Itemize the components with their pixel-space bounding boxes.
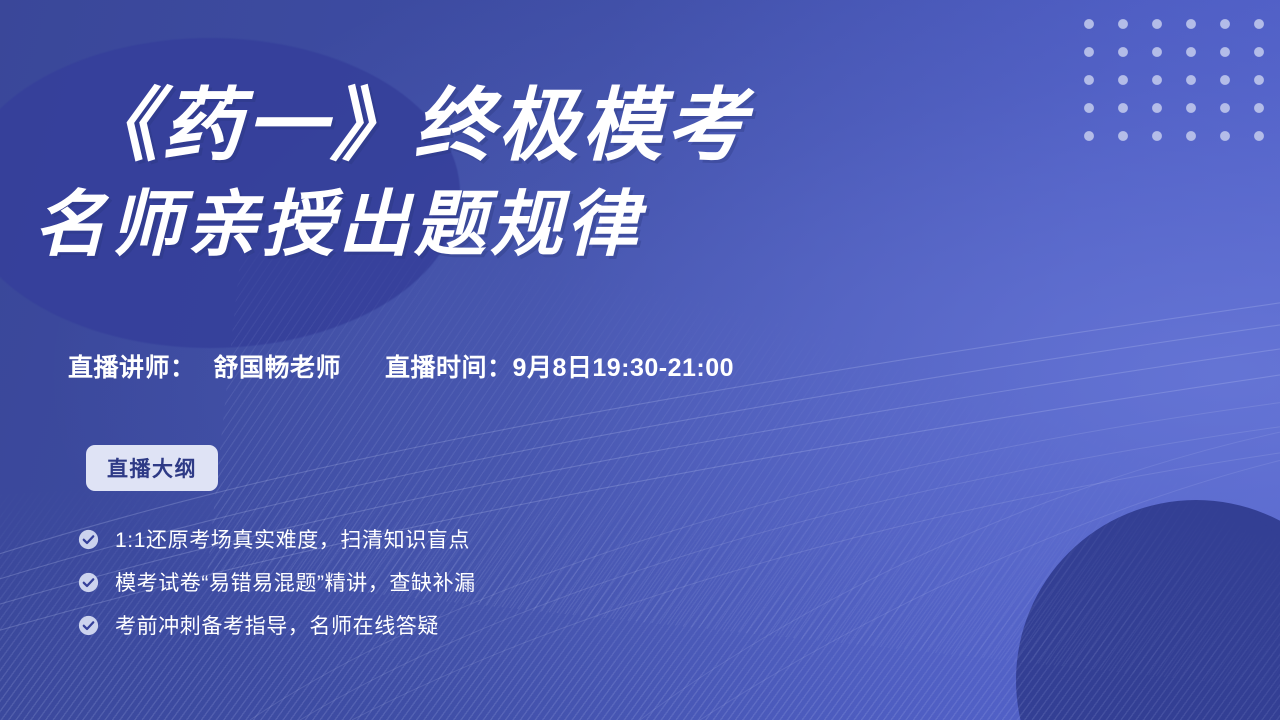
session-meta: 直播讲师： 舒国畅老师 直播时间： 9月8日19:30-21:00	[68, 348, 734, 384]
check-circle-icon	[78, 615, 99, 636]
live-class-poster: 《药一》终极模考 名师亲授出题规律 直播讲师： 舒国畅老师 直播时间： 9月8日…	[0, 0, 1280, 720]
list-item: 模考试卷“易错易混题”精讲，查缺补漏	[78, 561, 718, 603]
outline-list: 1:1还原考场真实难度，扫清知识盲点 模考试卷“易错易混题”精讲，查缺补漏 考前…	[78, 518, 718, 647]
instructor-name: 舒国畅老师	[214, 348, 342, 384]
time-label: 直播时间：	[385, 348, 513, 384]
check-circle-icon	[78, 572, 99, 593]
instructor-label: 直播讲师：	[68, 348, 196, 384]
poster-content: 《药一》终极模考 名师亲授出题规律 直播讲师： 舒国畅老师 直播时间： 9月8日…	[0, 0, 1280, 720]
list-item: 考前冲刺备考指导，名师在线答疑	[78, 604, 718, 646]
list-item-label: 1:1还原考场真实难度，扫清知识盲点	[115, 524, 470, 554]
list-item: 1:1还原考场真实难度，扫清知识盲点	[78, 518, 718, 560]
check-circle-icon	[78, 529, 99, 550]
outline-badge-label: 直播大纲	[107, 453, 197, 483]
status-badge: 直播大纲	[86, 445, 218, 491]
headline-line-secondary: 名师亲授出题规律	[0, 188, 980, 260]
page-title: 《药一》终极模考 名师亲授出题规律	[0, 86, 980, 260]
list-item-label: 模考试卷“易错易混题”精讲，查缺补漏	[115, 567, 476, 597]
headline-line-primary: 《药一》终极模考	[0, 86, 980, 166]
list-item-label: 考前冲刺备考指导，名师在线答疑	[115, 610, 439, 640]
time-value: 9月8日19:30-21:00	[513, 348, 735, 384]
